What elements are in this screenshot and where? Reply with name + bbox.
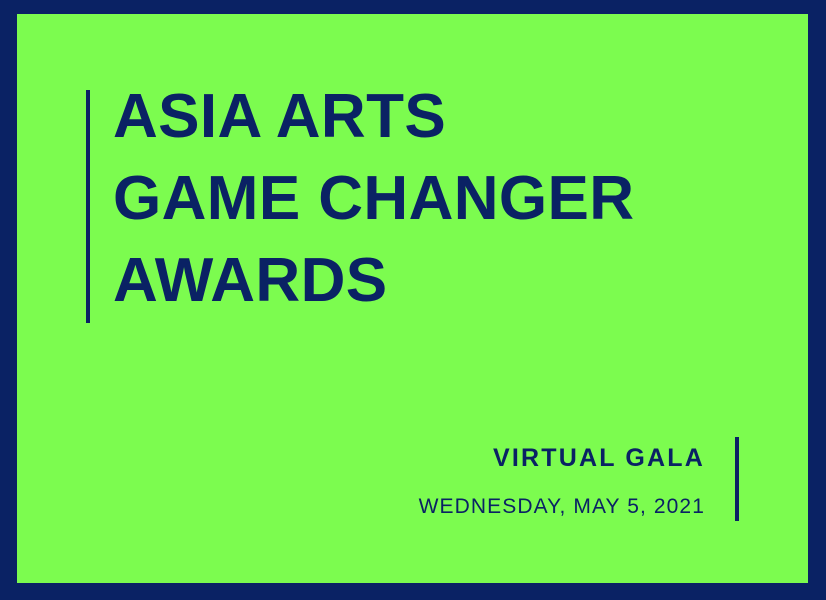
page-title: ASIA ARTS GAME CHANGER AWARDS [113,76,773,322]
banner-inner-field: ASIA ARTS GAME CHANGER AWARDS VIRTUAL GA… [17,14,808,583]
event-type-label: VIRTUAL GALA [419,444,705,473]
headline-line-2: GAME CHANGER [113,158,773,240]
vertical-rule-icon-right [735,437,739,521]
headline-line-3: AWARDS [113,240,773,322]
vertical-rule-icon-left [86,90,90,323]
headline-line-1: ASIA ARTS [113,76,773,158]
event-details: VIRTUAL GALA WEDNESDAY, MAY 5, 2021 [419,444,705,519]
event-banner: ASIA ARTS GAME CHANGER AWARDS VIRTUAL GA… [0,0,826,600]
event-date-label: WEDNESDAY, MAY 5, 2021 [419,495,705,519]
